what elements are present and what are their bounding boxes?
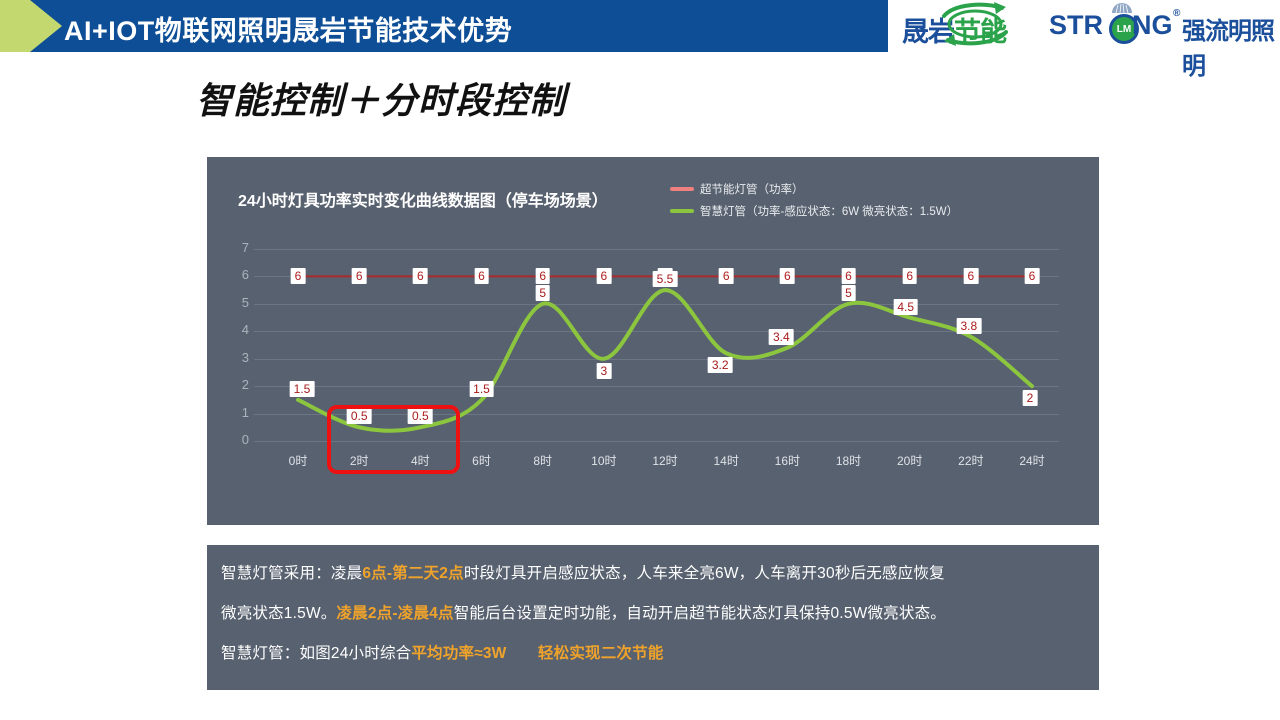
data-point-label: 3.4 — [769, 329, 794, 345]
x-axis-tick-label: 6时 — [458, 452, 506, 469]
x-axis-tick-label: 14时 — [702, 452, 750, 469]
data-point-label: 1.5 — [469, 381, 494, 397]
data-point-label: 6 — [841, 268, 856, 284]
highlighted-text: 轻松实现二次节能 — [538, 645, 664, 662]
registered-mark-icon: ® — [1173, 8, 1180, 19]
highlighted-text: 平均功率≈3W — [411, 645, 506, 662]
body-text: 智能后台设置定时功能，自动开启超节能状态灯具保持0.5W微亮状态。 — [454, 605, 946, 622]
chevron-accent-icon — [0, 0, 62, 52]
data-point-label: 5.5 — [653, 271, 678, 287]
data-point-label: 6 — [780, 268, 795, 284]
chart-panel: 24小时灯具功率实时变化曲线数据图（停车场场景） 超节能灯管（功率）智慧灯管（功… — [207, 157, 1099, 525]
data-point-label: 3.2 — [708, 357, 733, 373]
body-text: 智慧灯管采用：凌晨 — [221, 565, 362, 582]
data-point-label: 3.8 — [956, 318, 981, 334]
x-axis-tick-label: 24时 — [1008, 452, 1056, 469]
data-point-label: 5 — [841, 285, 856, 301]
x-axis-tick-label: 20时 — [886, 452, 934, 469]
x-axis-tick-label: 12时 — [641, 452, 689, 469]
body-text — [507, 645, 538, 662]
data-point-label: 2 — [1023, 390, 1038, 406]
brand-latin-name: STR — [1049, 10, 1103, 41]
chart-plot-area: 0123456766666666666661.50.50.51.5535.53.… — [207, 157, 1099, 525]
data-point-label: 5 — [535, 285, 550, 301]
brand-cn-qiangliuming: 强流明照明 — [1182, 11, 1274, 81]
description-line-1: 智慧灯管采用：凌晨6点-第二天2点时段灯具开启感应状态，人车来全亮6W，人车离开… — [221, 561, 945, 583]
brand-cn-jieneng: 节能 — [954, 17, 1006, 47]
data-point-label: 4.5 — [893, 299, 918, 315]
data-point-label: 6 — [902, 268, 917, 284]
x-axis-tick-label: 0时 — [274, 452, 322, 469]
body-text: 时段灯具开启感应状态，人车来全亮6W，人车离开30秒后无感应恢复 — [464, 565, 945, 582]
page-title: AI+IOT物联网照明晟岩节能技术优势 — [64, 9, 512, 48]
body-text: 智慧灯管：如图24小时综合 — [221, 645, 411, 662]
data-point-label: 6 — [474, 268, 489, 284]
brand-logo: 晟岩节能 STR LM NG ® 强流明照明 — [888, 0, 1280, 52]
brand-cn-shengyan: 晟岩 — [902, 17, 954, 47]
x-axis-tick-label: 8时 — [519, 452, 567, 469]
description-line-2: 微亮状态1.5W。凌晨2点-凌晨4点智能后台设置定时功能，自动开启超节能状态灯具… — [221, 601, 946, 623]
data-point-label: 1.5 — [290, 381, 315, 397]
description-panel: 智慧灯管采用：凌晨6点-第二天2点时段灯具开启感应状态，人车来全亮6W，人车离开… — [207, 545, 1099, 690]
data-point-label: 6 — [719, 268, 734, 284]
x-axis-tick-label: 16时 — [763, 452, 811, 469]
highlighted-text: 6点-第二天2点 — [362, 565, 464, 582]
brand-latin-tail: NG — [1132, 10, 1173, 41]
data-point-label: 6 — [963, 268, 978, 284]
fan-icon — [1110, 2, 1134, 14]
section-subtitle: 智能控制＋分时段控制 — [196, 72, 566, 124]
data-point-label: 6 — [535, 268, 550, 284]
data-point-label: 6 — [596, 268, 611, 284]
description-line-3: 智慧灯管：如图24小时综合平均功率≈3W 轻松实现二次节能 — [221, 641, 664, 663]
brand-chinese-name: 晟岩节能 — [902, 10, 1006, 49]
highlight-box-annotation — [327, 405, 460, 474]
x-axis-tick-label: 10时 — [580, 452, 628, 469]
x-axis-tick-label: 18时 — [825, 452, 873, 469]
body-text: 微亮状态1.5W。 — [221, 605, 336, 622]
data-point-label: 6 — [352, 268, 367, 284]
x-axis-tick-label: 22时 — [947, 452, 995, 469]
data-point-label: 3 — [596, 363, 611, 379]
data-point-label: 6 — [291, 268, 306, 284]
highlighted-text: 凌晨2点-凌晨4点 — [336, 605, 453, 622]
page-header: AI+IOT物联网照明晟岩节能技术优势 晟岩节能 STR LM NG ® 强流明… — [0, 0, 1280, 52]
data-point-label: 6 — [1025, 268, 1040, 284]
data-point-label: 6 — [413, 268, 428, 284]
